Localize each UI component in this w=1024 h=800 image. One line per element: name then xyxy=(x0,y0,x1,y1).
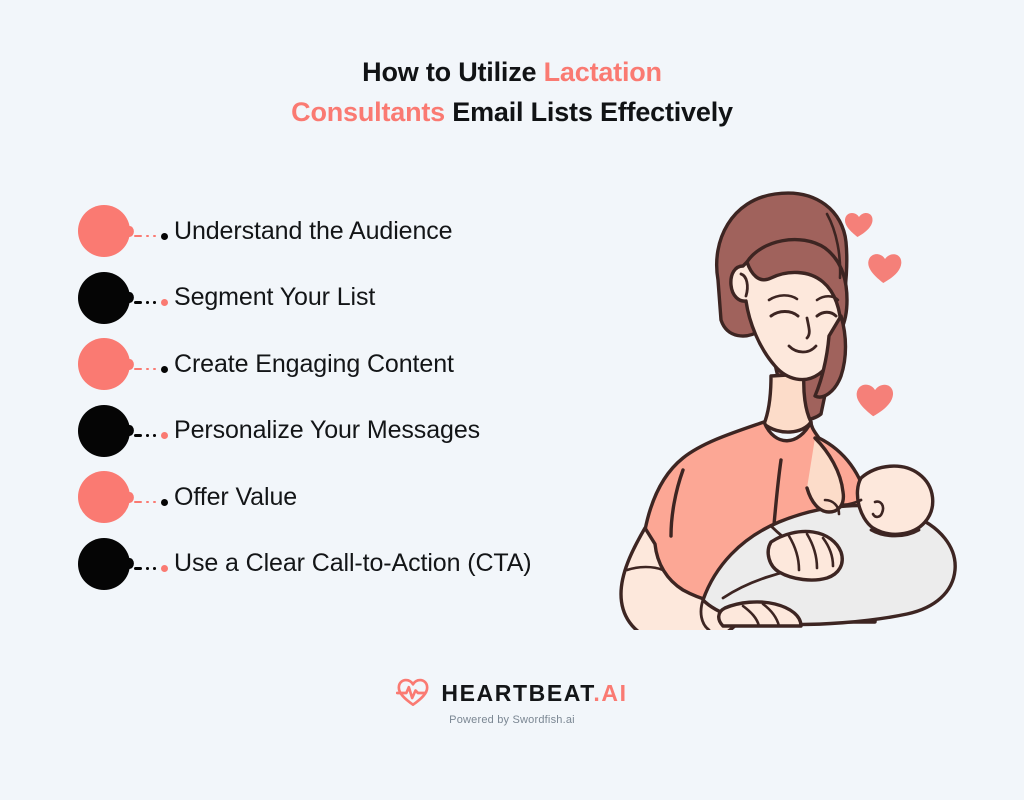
connector-dot xyxy=(153,235,156,238)
connector-dot xyxy=(146,434,149,437)
logo-wordmark: HEARTBEAT.AI xyxy=(441,682,627,705)
step-marker-circle xyxy=(78,471,130,523)
list-item: Segment Your List xyxy=(78,265,638,332)
page-title: How to Utilize Lactation Consultants Ema… xyxy=(0,52,1024,132)
step-marker-circle xyxy=(78,338,130,390)
list-item: Create Engaging Content xyxy=(78,331,638,398)
floating-heart xyxy=(857,385,893,417)
step-label: Understand the Audience xyxy=(174,198,452,265)
mother-and-baby-illustration xyxy=(575,170,975,630)
infographic-canvas: How to Utilize Lactation Consultants Ema… xyxy=(0,0,1024,800)
logo-tagline: Powered by Swordfish.ai xyxy=(449,714,575,726)
step-connector xyxy=(134,564,168,574)
logo-wordmark-accent: .AI xyxy=(593,680,627,706)
list-item: Understand the Audience xyxy=(78,198,638,265)
connector-end-dot xyxy=(161,565,168,572)
step-label: Offer Value xyxy=(174,464,297,531)
step-label: Use a Clear Call-to-Action (CTA) xyxy=(174,531,532,598)
step-connector xyxy=(134,497,168,507)
connector-dot xyxy=(153,368,156,371)
connector-dot xyxy=(153,567,156,570)
step-marker-circle xyxy=(78,205,130,257)
logo-main-row: HEARTBEAT.AI xyxy=(396,678,627,708)
step-label: Create Engaging Content xyxy=(174,331,454,398)
floating-heart xyxy=(845,213,873,237)
list-item: Offer Value xyxy=(78,464,638,531)
title-text-plain-1: How to Utilize xyxy=(362,57,544,87)
connector-dash xyxy=(134,434,142,437)
connector-dot xyxy=(146,235,149,238)
title-highlight-consultants: Consultants xyxy=(291,97,445,127)
connector-dot xyxy=(146,368,149,371)
title-text-plain-2: Email Lists Effectively xyxy=(445,97,733,127)
connector-dot xyxy=(146,501,149,504)
step-marker-circle xyxy=(78,405,130,457)
heartbeat-logo: HEARTBEAT.AI Powered by Swordfish.ai xyxy=(0,678,1024,726)
logo-wordmark-dark: HEARTBEAT xyxy=(441,680,593,706)
step-marker-circle xyxy=(78,538,130,590)
connector-end-dot xyxy=(161,432,168,439)
connector-dot xyxy=(153,301,156,304)
connector-end-dot xyxy=(161,299,168,306)
steps-list: Understand the Audience Segment Your Lis… xyxy=(78,198,638,597)
title-line-2: Consultants Email Lists Effectively xyxy=(0,92,1024,132)
step-marker-circle xyxy=(78,272,130,324)
connector-dash xyxy=(134,501,142,504)
title-line-1: How to Utilize Lactation xyxy=(0,52,1024,92)
step-label: Personalize Your Messages xyxy=(174,398,480,465)
connector-dot xyxy=(153,434,156,437)
title-highlight-lactation: Lactation xyxy=(544,57,662,87)
connector-end-dot xyxy=(161,233,168,240)
heartbeat-heart-icon xyxy=(396,678,430,708)
floating-heart xyxy=(868,254,901,283)
connector-dash xyxy=(134,235,142,238)
step-connector xyxy=(134,298,168,308)
connector-dash xyxy=(134,301,142,304)
connector-dash xyxy=(134,368,142,371)
connector-dot xyxy=(146,301,149,304)
list-item: Use a Clear Call-to-Action (CTA) xyxy=(78,531,638,598)
step-connector xyxy=(134,231,168,241)
step-label: Segment Your List xyxy=(174,265,375,332)
list-item: Personalize Your Messages xyxy=(78,398,638,465)
connector-end-dot xyxy=(161,366,168,373)
connector-end-dot xyxy=(161,499,168,506)
step-connector xyxy=(134,364,168,374)
connector-dot xyxy=(153,501,156,504)
step-connector xyxy=(134,431,168,441)
connector-dash xyxy=(134,567,142,570)
connector-dot xyxy=(146,567,149,570)
